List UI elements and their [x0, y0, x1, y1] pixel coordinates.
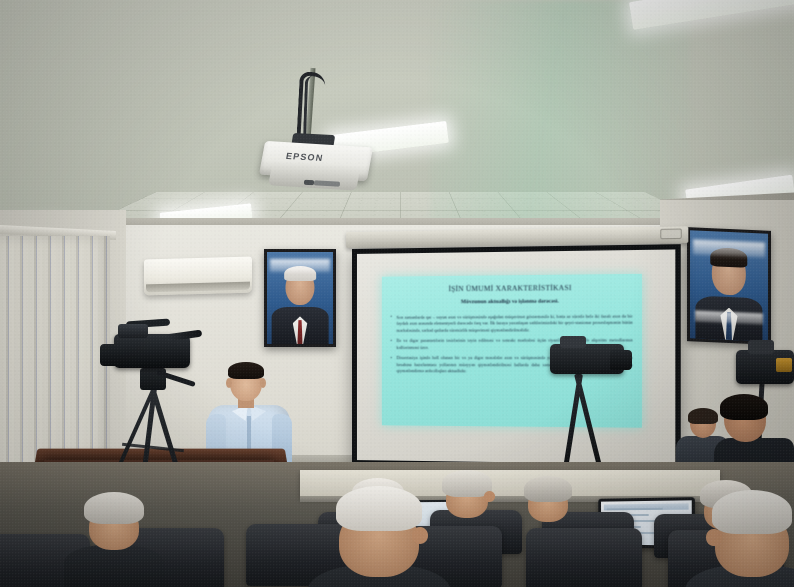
operator-hair: [720, 394, 768, 420]
audience-shoulders: [64, 545, 165, 587]
portrait-glass-glare: [270, 259, 331, 272]
portrait-image: [267, 252, 333, 344]
camera-hood: [748, 340, 774, 354]
audience-ear: [706, 529, 721, 545]
audience-member: [524, 476, 572, 522]
slide-title: İŞİN ÜMUMİ XARAKTERİSTİKASI: [381, 283, 642, 294]
slide-bullet-item: Son zamanlarda qar – suyun axın və sürüş…: [390, 313, 632, 334]
portrait-frame-ilham-aliyev: [687, 227, 771, 345]
ceiling-projector: EPSON: [252, 68, 372, 183]
camera-hood: [560, 336, 586, 348]
screen-case-knob: [660, 228, 682, 239]
presenter-hair: [228, 362, 264, 379]
laptop-screen-textline: [607, 508, 663, 511]
ceiling-green-reflection: [430, 0, 690, 240]
audience-hair: [712, 490, 792, 534]
portrait-glass-glare: [693, 239, 765, 257]
camera-lens: [100, 344, 124, 366]
portrait-frame-heydar-aliyev: [264, 249, 336, 347]
audience-member-foreground: [336, 486, 422, 572]
camera-viewfinder: [118, 324, 148, 338]
audience-hair: [84, 492, 144, 524]
audience-hair: [524, 476, 572, 502]
audience-member: [442, 470, 492, 518]
audience-member-foreground: [712, 490, 792, 572]
presenter-ear: [260, 378, 266, 388]
portrait-image: [690, 230, 768, 341]
ceiling-light-panel: [629, 0, 794, 30]
audience-member-foreground: [84, 492, 144, 550]
camera-lens: [610, 350, 632, 370]
auditorium-seat: [526, 528, 642, 587]
audience-ear: [484, 491, 495, 502]
vertical-blinds: [0, 236, 110, 480]
projector-cable-secondary: [303, 76, 322, 143]
presenter-ear: [226, 378, 232, 388]
lecture-hall-photo: EPSON: [0, 0, 794, 587]
audience-hair: [336, 486, 422, 531]
tripod-leg: [562, 374, 583, 474]
projector-lens: [304, 180, 314, 186]
slide-subtitle: Mövzunun aktuallığı və işlənmə dərəcəsi.: [381, 297, 642, 305]
camera-light: [776, 358, 792, 372]
tripod-brace: [122, 443, 184, 452]
